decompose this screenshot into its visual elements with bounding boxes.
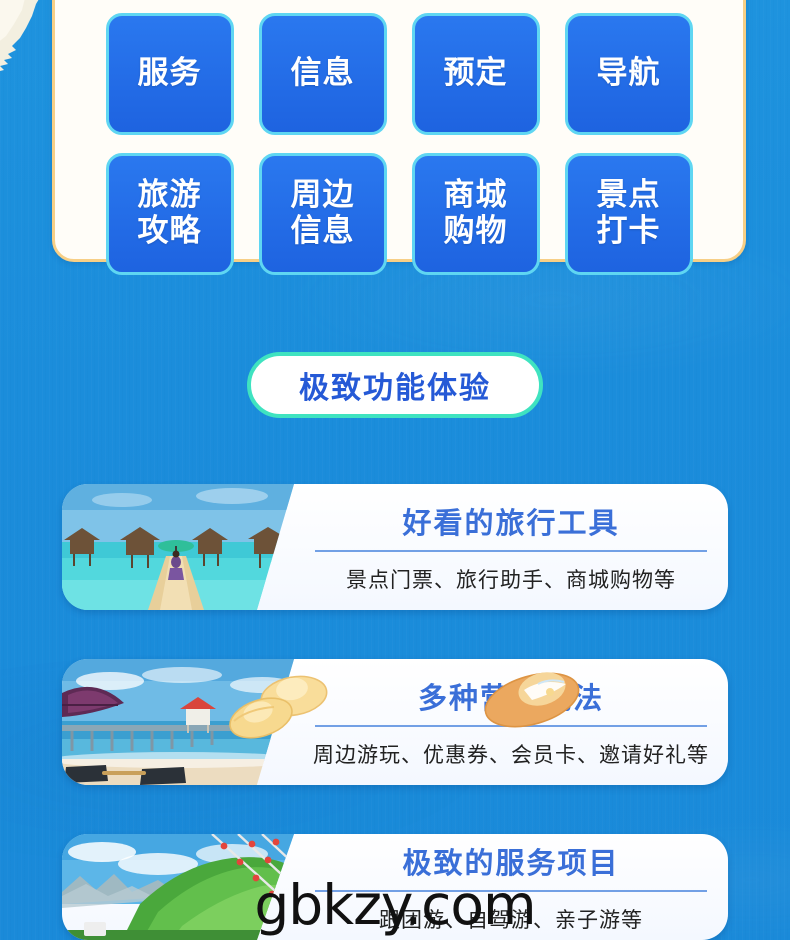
feature-divider	[315, 550, 707, 552]
nav-button-travel-guide[interactable]: 旅游 攻略	[106, 153, 234, 275]
nav-button-grid: 服务 信息 预定 导航 旅游 攻略 周边 信息 商城 购物 景点 打卡	[55, 13, 743, 275]
feature-subtitle: 周边游玩、优惠券、会员卡、邀请好礼等	[313, 739, 709, 769]
nav-button-label-line1: 周边	[291, 178, 355, 214]
nav-button-label-line2: 打卡	[597, 214, 661, 250]
feature-text-block: 好看的旅行工具 景点门票、旅行助手、商城购物等	[294, 484, 728, 610]
feature-image-bungalows	[62, 484, 294, 610]
straw-hat-left-small-icon	[228, 687, 298, 739]
nav-button-navigation[interactable]: 导航	[565, 13, 693, 135]
section-badge: 极致功能体验	[247, 352, 543, 418]
nav-button-booking[interactable]: 预定	[412, 13, 540, 135]
feature-subtitle: 景点门票、旅行助手、商城购物等	[346, 564, 676, 594]
nav-button-label: 服务	[138, 56, 202, 92]
nav-button-information[interactable]: 信息	[259, 13, 387, 135]
nav-button-mall-shopping[interactable]: 商城 购物	[412, 153, 540, 275]
feature-card-marketing[interactable]: 多种营销玩法 周边游玩、优惠券、会员卡、邀请好礼等	[62, 659, 728, 785]
nav-button-scenic-checkin[interactable]: 景点 打卡	[565, 153, 693, 275]
feature-title: 好看的旅行工具	[402, 500, 619, 542]
nav-button-label: 导航	[597, 56, 661, 92]
nav-button-label-line2: 信息	[291, 214, 355, 250]
nav-button-label: 信息	[291, 56, 355, 92]
feature-card-travel-tools[interactable]: 好看的旅行工具 景点门票、旅行助手、商城购物等	[62, 484, 728, 610]
nav-button-label-line1: 旅游	[138, 178, 202, 214]
nav-button-label-line1: 景点	[597, 178, 661, 214]
nav-button-label: 预定	[444, 56, 508, 92]
function-nav-card: 服务 信息 预定 导航 旅游 攻略 周边 信息 商城 购物 景点 打卡	[52, 0, 746, 262]
section-badge-label: 极致功能体验	[299, 363, 491, 407]
section-badge-area: 极致功能体验	[0, 330, 790, 440]
nav-button-label-line2: 购物	[444, 214, 508, 250]
site-watermark: gbkzy.com	[0, 873, 790, 937]
nav-button-nearby-info[interactable]: 周边 信息	[259, 153, 387, 275]
nav-button-label-line1: 商城	[444, 178, 508, 214]
nav-button-label-line2: 攻略	[138, 214, 202, 250]
straw-hat-right-icon	[480, 660, 584, 734]
nav-button-service[interactable]: 服务	[106, 13, 234, 135]
